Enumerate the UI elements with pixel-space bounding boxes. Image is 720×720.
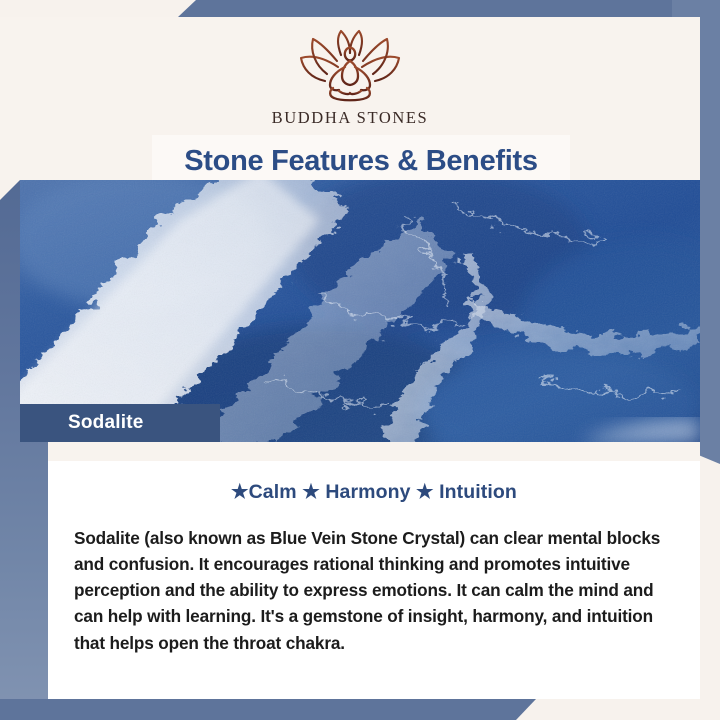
stone-name-label: Sodalite bbox=[20, 404, 220, 442]
decorative-bottom-bar bbox=[0, 699, 560, 720]
brand-logo: BUDDHA STONES bbox=[0, 27, 700, 128]
page-title: Stone Features & Benefits bbox=[184, 145, 537, 178]
stone-info-poster: BUDDHA STONES Stone Features & Benefits bbox=[0, 0, 720, 720]
stone-name-text: Sodalite bbox=[20, 412, 144, 434]
lotus-meditation-figure-icon bbox=[275, 27, 425, 105]
content-top-strip bbox=[48, 442, 700, 461]
stone-keywords: ★Calm ★ Harmony ★ Intuition bbox=[48, 480, 700, 504]
sodalite-texture-image bbox=[20, 180, 700, 442]
brand-name: BUDDHA STONES bbox=[272, 108, 429, 128]
decorative-top-bar bbox=[0, 0, 720, 17]
header: BUDDHA STONES Stone Features & Benefits bbox=[0, 17, 700, 180]
content-card: ★Calm ★ Harmony ★ Intuition Sodalite (al… bbox=[48, 461, 700, 699]
stone-description: Sodalite (also known as Blue Vein Stone … bbox=[74, 525, 674, 656]
stone-photo bbox=[20, 180, 700, 442]
